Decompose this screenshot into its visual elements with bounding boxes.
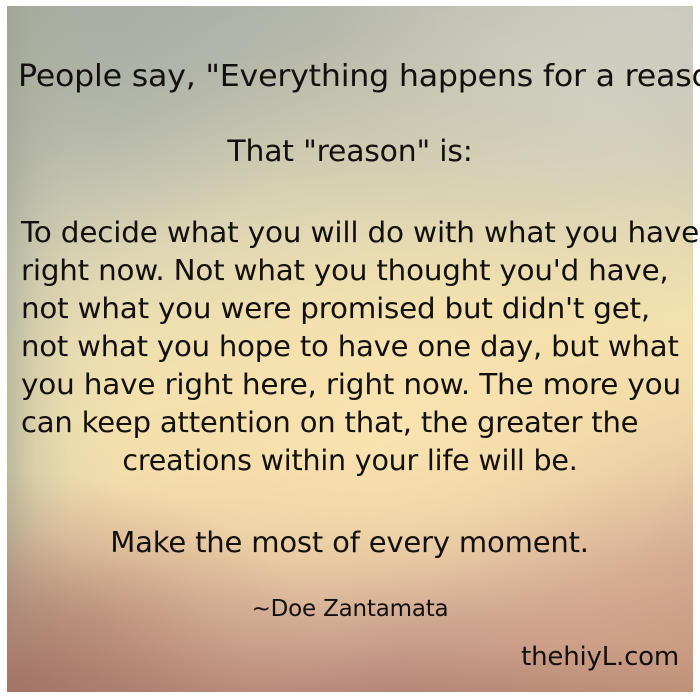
quote-body-line-6: can keep attention on that, the greater … — [7, 409, 693, 438]
site-watermark: thehiyL.com — [521, 644, 679, 670]
quote-opening-text: People say, "Everything happens for a re… — [18, 59, 700, 94]
quote-attribution-text: ~Doe Zantamata — [252, 598, 449, 621]
quote-opening-line: People say, "Everything happens for a re… — [18, 62, 700, 92]
quote-body-line-2: right now. Not what you thought you'd ha… — [7, 257, 693, 286]
quote-body-line-7: creations within your life will be. — [7, 447, 693, 476]
quote-body-line-3: not what you were promised but didn't ge… — [7, 295, 693, 324]
quote-body-text-3: not what you were promised but didn't ge… — [21, 295, 650, 324]
site-watermark-text: thehiyL.com — [521, 644, 679, 670]
quote-poster: People say, "Everything happens for a re… — [0, 0, 700, 700]
quote-body-text-5: you have right here, right now. The more… — [21, 371, 681, 400]
quote-text-layer: People say, "Everything happens for a re… — [7, 6, 693, 692]
quote-body-line-1: To decide what you will do with what you… — [7, 219, 693, 248]
quote-body-text-2: right now. Not what you thought you'd ha… — [21, 257, 669, 286]
quote-body-text-4: not what you hope to have one day, but w… — [21, 333, 679, 362]
quote-closing-text: Make the most of every moment. — [111, 529, 590, 558]
quote-body-text-7: creations within your life will be. — [122, 447, 577, 476]
quote-body-line-5: you have right here, right now. The more… — [7, 371, 693, 400]
quote-body-line-4: not what you hope to have one day, but w… — [7, 333, 693, 362]
quote-body-text-6: can keep attention on that, the greater … — [21, 409, 638, 438]
quote-lead-in-text: That "reason" is: — [227, 137, 472, 166]
quote-closing-line: Make the most of every moment. — [7, 529, 693, 558]
quote-body-text-1: To decide what you will do with what you… — [21, 219, 699, 248]
quote-attribution: ~Doe Zantamata — [7, 598, 693, 621]
quote-lead-in-line: That "reason" is: — [7, 137, 693, 166]
